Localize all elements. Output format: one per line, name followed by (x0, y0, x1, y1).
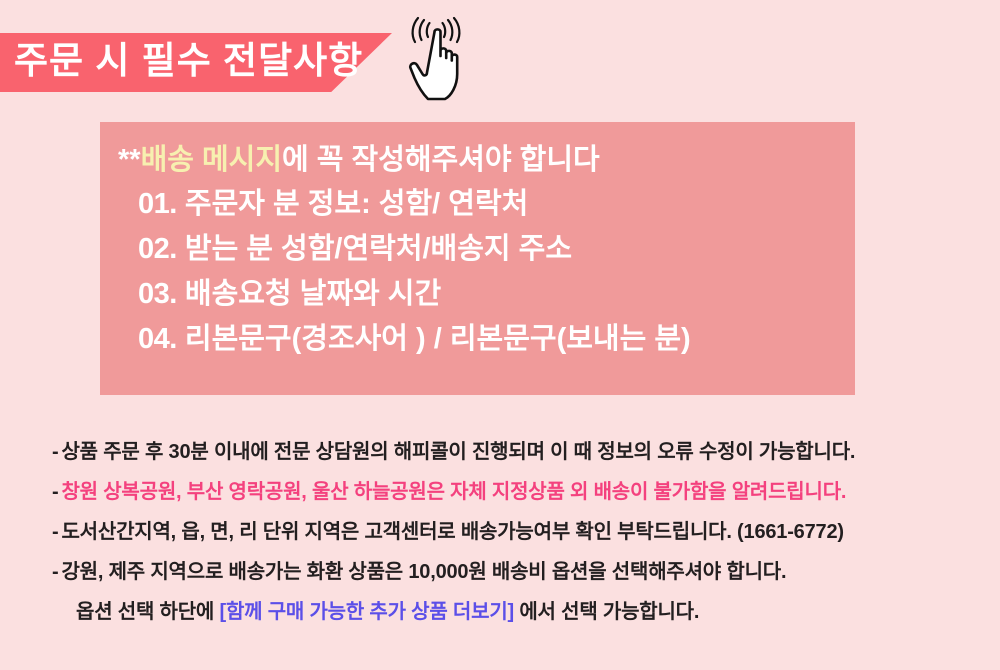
heading-rest: 에 꼭 작성해주셔야 합니다 (282, 144, 600, 176)
list-item: 03. 배송요청 날짜와 시간 (100, 272, 855, 317)
page-title: 주문 시 필수 전달사항 (14, 30, 374, 92)
note-text: 강원, 제주 지역으로 배송가는 화환 상품은 10,000원 배송비 옵션을 … (61, 561, 786, 583)
list-item-label: 배송요청 날짜와 시간 (185, 278, 441, 310)
delivery-message-box: **배송 메시지에 꼭 작성해주셔야 합니다 01. 주문자 분 정보: 성함/… (100, 122, 855, 395)
header-area: 주문 시 필수 전달사항 (0, 0, 1000, 110)
note-text-before: 옵션 선택 하단에 (76, 601, 219, 623)
list-item-label: 주문자 분 정보: 성함/ 연락처 (185, 188, 528, 220)
list-item: 02. 받는 분 성함/연락처/배송지 주소 (100, 227, 855, 272)
note-text: 도서산간지역, 읍, 면, 리 단위 지역은 고객센터로 배송가능여부 확인 부… (61, 521, 843, 543)
list-item-number: 04. (138, 323, 177, 355)
note-dash: - (52, 481, 58, 503)
list-item: 04. 리본문구(경조사어 ) / 리본문구(보내는 분) (100, 317, 855, 362)
list-item-number: 03. (138, 278, 177, 310)
notes-section: -상품 주문 후 30분 이내에 전문 상담원의 해피콜이 진행되며 이 때 정… (52, 432, 982, 632)
list-item-label: 받는 분 성함/연락처/배송지 주소 (185, 233, 572, 265)
note-dash: - (52, 521, 58, 543)
additional-products-link[interactable]: [함께 구매 가능한 추가 상품 더보기] (219, 601, 514, 623)
note-line-highlighted: -창원 상복공원, 부산 영락공원, 울산 하늘공원은 자체 지정상품 외 배송… (52, 472, 982, 512)
note-line: -도서산간지역, 읍, 면, 리 단위 지역은 고객센터로 배송가능여부 확인 … (52, 512, 982, 552)
note-line-final: 옵션 선택 하단에 [함께 구매 가능한 추가 상품 더보기] 에서 선택 가능… (52, 592, 982, 632)
note-line: -강원, 제주 지역으로 배송가는 화환 상품은 10,000원 배송비 옵션을… (52, 552, 982, 592)
heading-highlight: 배송 메시지 (141, 144, 282, 176)
note-dash: - (52, 561, 58, 583)
tap-hand-icon (396, 8, 476, 104)
note-text: 상품 주문 후 30분 이내에 전문 상담원의 해피콜이 진행되며 이 때 정보… (61, 441, 855, 463)
note-line: -상품 주문 후 30분 이내에 전문 상담원의 해피콜이 진행되며 이 때 정… (52, 432, 982, 472)
heading-asterisks: ** (118, 144, 141, 176)
message-box-heading: **배송 메시지에 꼭 작성해주셔야 합니다 (100, 138, 855, 182)
list-item-number: 02. (138, 233, 177, 265)
list-item: 01. 주문자 분 정보: 성함/ 연락처 (100, 182, 855, 227)
note-dash: - (52, 441, 58, 463)
note-text: 창원 상복공원, 부산 영락공원, 울산 하늘공원은 자체 지정상품 외 배송이… (61, 481, 846, 503)
list-item-number: 01. (138, 188, 177, 220)
note-text-after: 에서 선택 가능합니다. (514, 601, 699, 623)
list-item-label: 리본문구(경조사어 ) / 리본문구(보내는 분) (185, 323, 691, 355)
